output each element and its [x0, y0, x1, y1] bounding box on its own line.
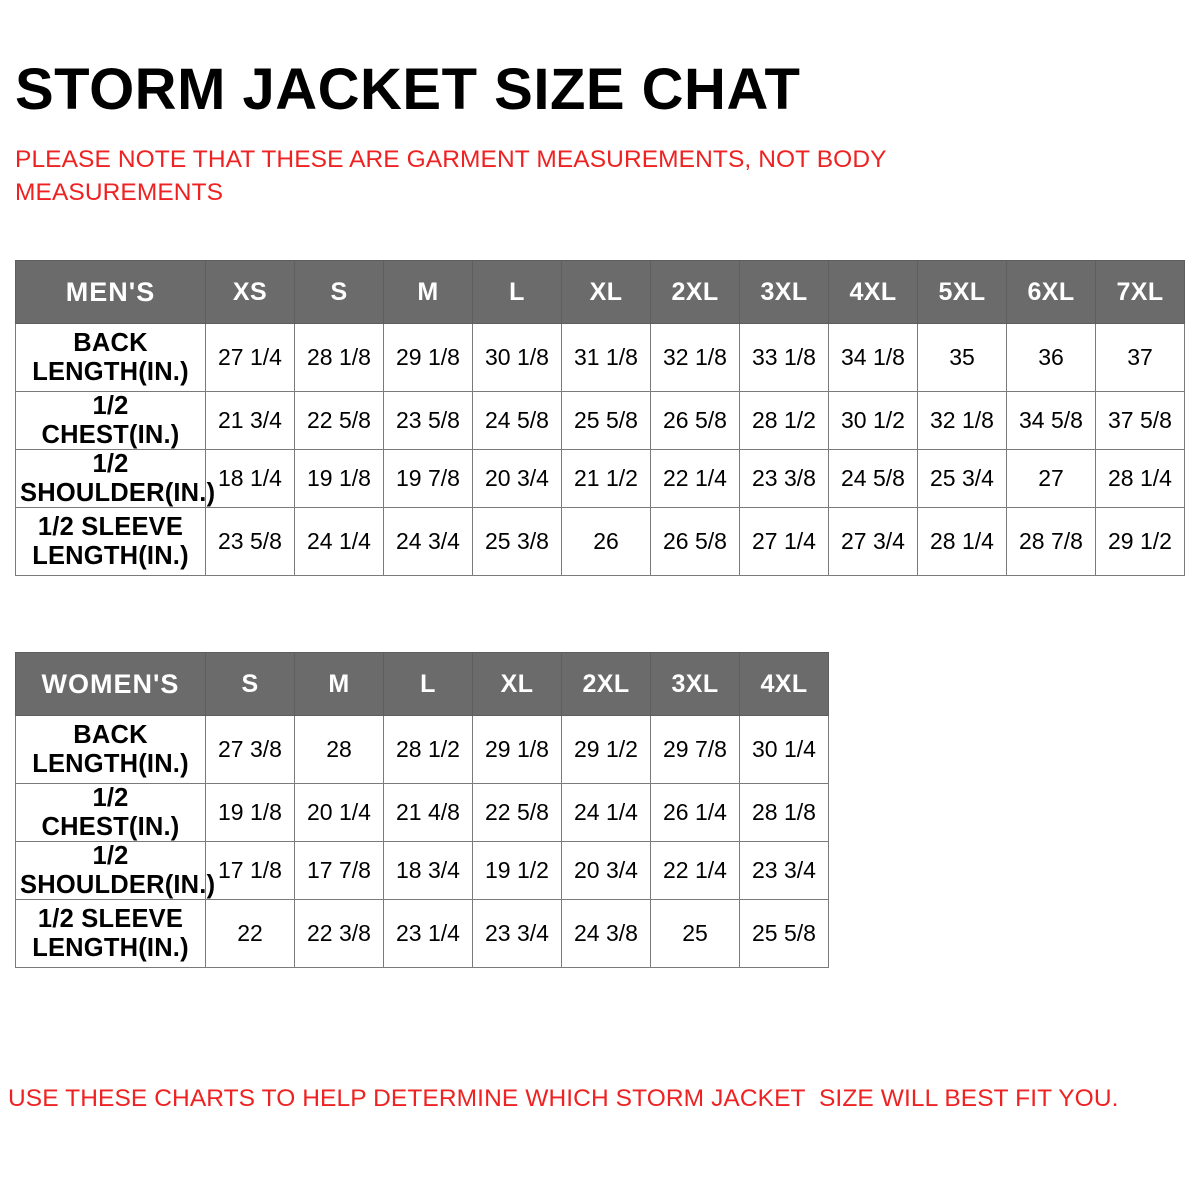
mens-table-row: 1/2 SHOULDER(IN.)18 1/419 1/819 7/820 3/… [16, 450, 1185, 508]
womens-cell: 21 4/8 [384, 784, 473, 842]
womens-cell: 20 1/4 [295, 784, 384, 842]
mens-header-row: MEN'SXSSMLXL2XL3XL4XL5XL6XL7XL [16, 261, 1185, 324]
mens-size-header-5xl: 5XL [918, 261, 1007, 324]
mens-cell: 28 1/2 [740, 392, 829, 450]
womens-cell: 17 7/8 [295, 842, 384, 900]
mens-size-table: MEN'SXSSMLXL2XL3XL4XL5XL6XL7XL BACKLENGT… [15, 260, 1185, 576]
womens-table-corner-label: WOMEN'S [16, 653, 206, 716]
mens-size-header-l: L [473, 261, 562, 324]
womens-row-label: BACKLENGTH(IN.) [16, 716, 206, 784]
mens-cell: 24 5/8 [829, 450, 918, 508]
womens-cell: 22 3/8 [295, 900, 384, 968]
womens-table-row: 1/2 SHOULDER(IN.)17 1/817 7/818 3/419 1/… [16, 842, 829, 900]
size-chart-page: STORM JACKET SIZE CHAT PLEASE NOTE THAT … [0, 0, 1200, 1200]
womens-cell: 22 5/8 [473, 784, 562, 842]
womens-cell: 23 3/4 [473, 900, 562, 968]
womens-cell: 24 1/4 [562, 784, 651, 842]
womens-size-header-2xl: 2XL [562, 653, 651, 716]
mens-cell: 24 3/4 [384, 508, 473, 576]
womens-cell: 29 7/8 [651, 716, 740, 784]
mens-size-header-xs: XS [206, 261, 295, 324]
womens-cell: 28 1/8 [740, 784, 829, 842]
mens-cell: 23 3/8 [740, 450, 829, 508]
womens-cell: 28 [295, 716, 384, 784]
womens-cell: 30 1/4 [740, 716, 829, 784]
mens-row-label: 1/2 CHEST(IN.) [16, 392, 206, 450]
womens-table-row: 1/2 SLEEVELENGTH(IN.)2222 3/823 1/423 3/… [16, 900, 829, 968]
mens-row-label: 1/2 SLEEVELENGTH(IN.) [16, 508, 206, 576]
mens-cell: 27 3/4 [829, 508, 918, 576]
womens-size-table: WOMEN'SSMLXL2XL3XL4XL BACKLENGTH(IN.)27 … [15, 652, 829, 968]
mens-cell: 19 7/8 [384, 450, 473, 508]
womens-size-header-s: S [206, 653, 295, 716]
mens-table-corner-label: MEN'S [16, 261, 206, 324]
womens-cell: 25 [651, 900, 740, 968]
womens-table-head: WOMEN'SSMLXL2XL3XL4XL [16, 653, 829, 716]
mens-cell: 37 [1096, 324, 1185, 392]
garment-measurement-note: PLEASE NOTE THAT THESE ARE GARMENT MEASU… [15, 143, 975, 211]
mens-cell: 28 7/8 [1007, 508, 1096, 576]
womens-row-label: 1/2 SLEEVELENGTH(IN.) [16, 900, 206, 968]
mens-cell: 21 3/4 [206, 392, 295, 450]
womens-size-header-3xl: 3XL [651, 653, 740, 716]
womens-table-row: 1/2 CHEST(IN.)19 1/820 1/421 4/822 5/824… [16, 784, 829, 842]
footer-help-note: USE THESE CHARTS TO HELP DETERMINE WHICH… [8, 1083, 1168, 1115]
mens-cell: 28 1/4 [1096, 450, 1185, 508]
womens-cell: 23 3/4 [740, 842, 829, 900]
mens-cell: 26 [562, 508, 651, 576]
womens-cell: 25 5/8 [740, 900, 829, 968]
mens-cell: 18 1/4 [206, 450, 295, 508]
womens-row-label: 1/2 SHOULDER(IN.) [16, 842, 206, 900]
mens-table-row: 1/2 SLEEVELENGTH(IN.)23 5/824 1/424 3/42… [16, 508, 1185, 576]
mens-size-header-xl: XL [562, 261, 651, 324]
womens-size-header-l: L [384, 653, 473, 716]
womens-size-header-m: M [295, 653, 384, 716]
mens-cell: 31 1/8 [562, 324, 651, 392]
mens-row-label: BACKLENGTH(IN.) [16, 324, 206, 392]
mens-cell: 21 1/2 [562, 450, 651, 508]
womens-cell: 22 1/4 [651, 842, 740, 900]
mens-table-body: BACKLENGTH(IN.)27 1/428 1/829 1/830 1/83… [16, 324, 1185, 576]
womens-cell: 19 1/2 [473, 842, 562, 900]
mens-cell: 32 1/8 [651, 324, 740, 392]
mens-cell: 19 1/8 [295, 450, 384, 508]
mens-cell: 27 1/4 [206, 324, 295, 392]
womens-size-header-4xl: 4XL [740, 653, 829, 716]
womens-size-header-xl: XL [473, 653, 562, 716]
mens-size-header-6xl: 6XL [1007, 261, 1096, 324]
mens-size-header-m: M [384, 261, 473, 324]
mens-size-header-4xl: 4XL [829, 261, 918, 324]
womens-cell: 19 1/8 [206, 784, 295, 842]
mens-table-head: MEN'SXSSMLXL2XL3XL4XL5XL6XL7XL [16, 261, 1185, 324]
mens-cell: 24 5/8 [473, 392, 562, 450]
mens-cell: 36 [1007, 324, 1096, 392]
womens-cell: 28 1/2 [384, 716, 473, 784]
mens-cell: 30 1/2 [829, 392, 918, 450]
mens-row-label: 1/2 SHOULDER(IN.) [16, 450, 206, 508]
mens-cell: 26 5/8 [651, 508, 740, 576]
womens-cell: 22 [206, 900, 295, 968]
mens-cell: 20 3/4 [473, 450, 562, 508]
mens-cell: 35 [918, 324, 1007, 392]
mens-cell: 30 1/8 [473, 324, 562, 392]
womens-cell: 17 1/8 [206, 842, 295, 900]
womens-cell: 20 3/4 [562, 842, 651, 900]
womens-cell: 29 1/8 [473, 716, 562, 784]
mens-cell: 33 1/8 [740, 324, 829, 392]
page-title: STORM JACKET SIZE CHAT [15, 61, 800, 119]
mens-cell: 25 3/4 [918, 450, 1007, 508]
mens-cell: 23 5/8 [206, 508, 295, 576]
mens-cell: 29 1/2 [1096, 508, 1185, 576]
mens-cell: 28 1/8 [295, 324, 384, 392]
mens-cell: 27 [1007, 450, 1096, 508]
womens-table-row: BACKLENGTH(IN.)27 3/82828 1/229 1/829 1/… [16, 716, 829, 784]
mens-size-header-s: S [295, 261, 384, 324]
mens-cell: 22 1/4 [651, 450, 740, 508]
mens-cell: 29 1/8 [384, 324, 473, 392]
womens-cell: 23 1/4 [384, 900, 473, 968]
womens-table-body: BACKLENGTH(IN.)27 3/82828 1/229 1/829 1/… [16, 716, 829, 968]
mens-size-header-3xl: 3XL [740, 261, 829, 324]
mens-cell: 23 5/8 [384, 392, 473, 450]
womens-cell: 24 3/8 [562, 900, 651, 968]
mens-table-row: BACKLENGTH(IN.)27 1/428 1/829 1/830 1/83… [16, 324, 1185, 392]
womens-cell: 27 3/8 [206, 716, 295, 784]
mens-size-header-2xl: 2XL [651, 261, 740, 324]
womens-row-label: 1/2 CHEST(IN.) [16, 784, 206, 842]
mens-cell: 25 5/8 [562, 392, 651, 450]
mens-cell: 37 5/8 [1096, 392, 1185, 450]
mens-cell: 32 1/8 [918, 392, 1007, 450]
mens-cell: 27 1/4 [740, 508, 829, 576]
womens-header-row: WOMEN'SSMLXL2XL3XL4XL [16, 653, 829, 716]
mens-cell: 34 5/8 [1007, 392, 1096, 450]
mens-cell: 34 1/8 [829, 324, 918, 392]
mens-size-header-7xl: 7XL [1096, 261, 1185, 324]
mens-cell: 22 5/8 [295, 392, 384, 450]
mens-cell: 25 3/8 [473, 508, 562, 576]
mens-cell: 28 1/4 [918, 508, 1007, 576]
womens-cell: 18 3/4 [384, 842, 473, 900]
mens-cell: 24 1/4 [295, 508, 384, 576]
mens-table-row: 1/2 CHEST(IN.)21 3/422 5/823 5/824 5/825… [16, 392, 1185, 450]
womens-cell: 26 1/4 [651, 784, 740, 842]
mens-cell: 26 5/8 [651, 392, 740, 450]
womens-cell: 29 1/2 [562, 716, 651, 784]
